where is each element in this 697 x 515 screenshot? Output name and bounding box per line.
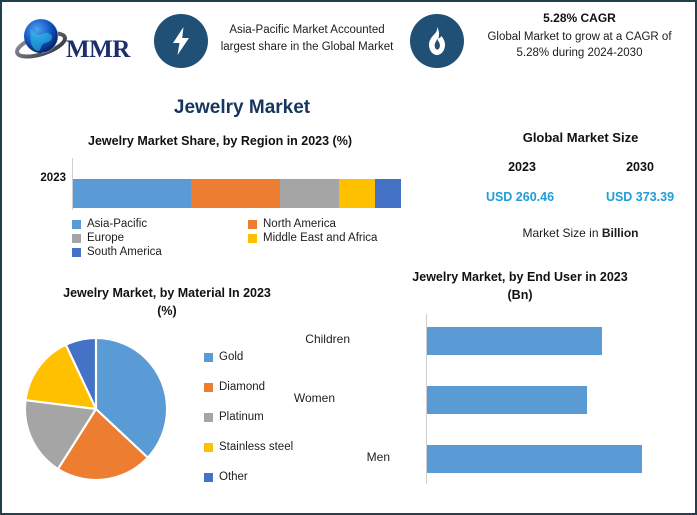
- legend-label-other: Other: [219, 471, 248, 483]
- material-chart-title-line2: (%): [8, 302, 326, 320]
- asia-pacific-note: Asia-Pacific Market Accounted largest sh…: [212, 22, 402, 56]
- market-size-unit-value: Billion: [602, 226, 639, 240]
- region-segment-europe: [280, 179, 339, 208]
- globe-icon: [14, 12, 70, 68]
- legend-label-diamond: Diamond: [219, 381, 265, 393]
- legend-swatch-middle-east-africa: [248, 234, 257, 243]
- legend-item-asia-pacific: Asia-Pacific: [72, 218, 248, 230]
- flame-icon: [425, 26, 449, 56]
- market-size-year-2023: 2023: [470, 160, 574, 174]
- legend-swatch-south-america: [72, 248, 81, 257]
- region-stacked-bar: [73, 179, 401, 208]
- end-user-bar-men: [427, 445, 642, 473]
- legend-swatch-stainless-steel: [204, 443, 213, 452]
- legend-label-middle-east-africa: Middle East and Africa: [263, 232, 377, 244]
- global-market-size-panel: Global Market Size 2023 2030 USD 260.46 …: [468, 130, 693, 260]
- end-user-label-women: Women: [265, 391, 335, 405]
- end-user-bar-row-children: Children: [427, 327, 602, 355]
- legend-item-south-america: South America: [72, 246, 248, 258]
- region-segment-middle-east-africa: [339, 179, 375, 208]
- material-legend: Gold Diamond Platinum Stainless steel Ot…: [204, 342, 334, 492]
- cagr-headline: 5.28% CAGR: [472, 10, 687, 27]
- legend-swatch-diamond: [204, 383, 213, 392]
- legend-swatch-other: [204, 473, 213, 482]
- page-title: Jewelry Market: [2, 97, 482, 119]
- legend-item-gold: Gold: [204, 342, 334, 372]
- market-size-unit-note: Market Size in Billion: [468, 226, 693, 240]
- market-size-unit-prefix: Market Size in: [522, 226, 601, 240]
- end-user-bar-women: [427, 386, 587, 414]
- market-size-year-2030: 2030: [588, 160, 692, 174]
- region-segment-north-america: [191, 179, 280, 208]
- legend-label-stainless-steel: Stainless steel: [219, 441, 293, 453]
- cagr-note: 5.28% CAGR Global Market to grow at a CA…: [472, 10, 687, 61]
- legend-swatch-north-america: [248, 220, 257, 229]
- material-pie-separators: [26, 339, 166, 479]
- cagr-body: Global Market to grow at a CAGR of 5.28%…: [472, 29, 687, 61]
- end-user-chart-title: Jewelry Market, by End User in 2023 (Bn): [350, 268, 690, 304]
- region-segment-south-america: [375, 179, 401, 208]
- legend-item-other: Other: [204, 462, 334, 492]
- end-user-plot-area: Children Women Men: [426, 314, 676, 484]
- region-segment-asia-pacific: [73, 179, 191, 208]
- header-bar: MMR Asia-Pacific Market Accounted larges…: [2, 2, 695, 84]
- region-legend: Asia-Pacific North America Europe Middle…: [72, 218, 432, 260]
- legend-item-middle-east-africa: Middle East and Africa: [248, 232, 377, 244]
- region-category-label: 2023: [18, 172, 66, 184]
- region-chart-title: Jewelry Market Share, by Region in 2023 …: [10, 134, 430, 148]
- material-chart-title-line1: Jewelry Market, by Material In 2023: [8, 284, 326, 302]
- legend-swatch-europe: [72, 234, 81, 243]
- lightning-bolt-icon: [168, 26, 194, 56]
- material-chart-title: Jewelry Market, by Material In 2023 (%): [8, 284, 326, 320]
- flame-badge: [410, 14, 464, 68]
- global-market-size-title: Global Market Size: [468, 130, 693, 145]
- end-user-chart-title-line2: (Bn): [350, 286, 690, 304]
- end-user-bar-row-men: Men: [427, 445, 642, 473]
- legend-label-north-america: North America: [263, 218, 336, 230]
- legend-swatch-asia-pacific: [72, 220, 81, 229]
- mmr-logo: MMR: [14, 10, 132, 72]
- region-share-chart: Jewelry Market Share, by Region in 2023 …: [10, 134, 440, 274]
- legend-item-north-america: North America: [248, 218, 336, 230]
- legend-item-stainless-steel: Stainless steel: [204, 432, 334, 462]
- logo-text: MMR: [66, 36, 130, 64]
- end-user-chart: Jewelry Market, by End User in 2023 (Bn)…: [350, 268, 695, 513]
- market-size-value-2030: USD 373.39: [584, 190, 696, 204]
- market-size-value-2023: USD 260.46: [464, 190, 576, 204]
- legend-label-south-america: South America: [87, 246, 162, 258]
- legend-swatch-gold: [204, 353, 213, 362]
- legend-label-platinum: Platinum: [219, 411, 264, 423]
- legend-label-europe: Europe: [87, 232, 124, 244]
- end-user-bar-row-women: Women: [427, 386, 587, 414]
- legend-item-europe: Europe: [72, 232, 248, 244]
- legend-item-platinum: Platinum: [204, 402, 334, 432]
- legend-label-gold: Gold: [219, 351, 243, 363]
- infographic-canvas: MMR Asia-Pacific Market Accounted larges…: [0, 0, 697, 515]
- legend-swatch-platinum: [204, 413, 213, 422]
- end-user-label-men: Men: [320, 450, 390, 464]
- end-user-label-children: Children: [280, 332, 350, 346]
- end-user-chart-title-line1: Jewelry Market, by End User in 2023: [350, 268, 690, 286]
- end-user-bar-children: [427, 327, 602, 355]
- lightning-bolt-badge: [154, 14, 208, 68]
- legend-label-asia-pacific: Asia-Pacific: [87, 218, 147, 230]
